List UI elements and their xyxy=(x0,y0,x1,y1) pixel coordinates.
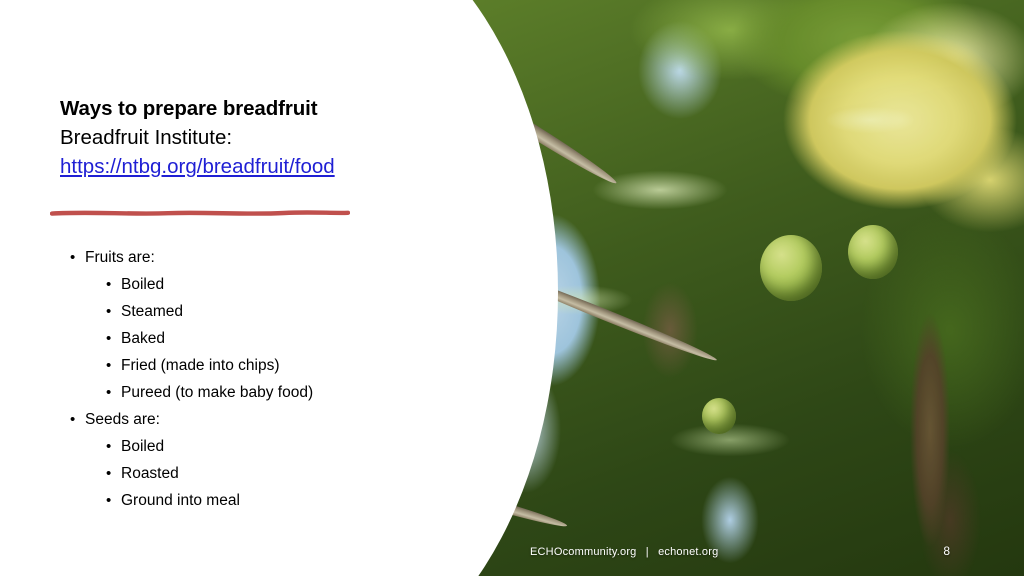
list-item: •Baked xyxy=(64,325,444,352)
breadfruit-fruit xyxy=(848,225,898,279)
footer-site-secondary: echonet.org xyxy=(658,546,718,558)
list-item-label: Steamed xyxy=(121,298,444,325)
bullet-dot-icon: • xyxy=(70,244,85,271)
list-item-label: Roasted xyxy=(121,460,444,487)
title-subtitle: Breadfruit Institute: xyxy=(60,123,450,152)
list-item: •Steamed xyxy=(64,298,444,325)
page-title: Ways to prepare breadfruit xyxy=(60,94,450,123)
red-divider xyxy=(50,207,350,219)
bullet-dot-icon: • xyxy=(106,433,121,460)
breadfruit-fruit xyxy=(702,398,736,434)
title-block: Ways to prepare breadfruit Breadfruit In… xyxy=(60,94,450,181)
list-item-label: Boiled xyxy=(121,271,444,298)
list-item-label: Fried (made into chips) xyxy=(121,352,444,379)
footer-site-primary: ECHOcommunity.org xyxy=(530,546,637,558)
list-item: •Boiled xyxy=(64,271,444,298)
photo-panel: ECHOcommunity.org | echonet.org 8 xyxy=(430,0,1024,576)
list-item: •Fruits are: xyxy=(64,244,444,271)
text-column: Ways to prepare breadfruit Breadfruit In… xyxy=(0,0,450,576)
breadfruit-institute-link[interactable]: https://ntbg.org/breadfruit/food xyxy=(60,152,335,181)
bullet-dot-icon: • xyxy=(106,487,121,514)
footer-credit: ECHOcommunity.org | echonet.org xyxy=(530,546,718,558)
bullet-dot-icon: • xyxy=(70,406,85,433)
list-item-label: Fruits are: xyxy=(85,244,444,271)
footer-separator: | xyxy=(640,546,655,558)
list-item: •Ground into meal xyxy=(64,487,444,514)
page-number: 8 xyxy=(943,544,950,558)
bullet-dot-icon: • xyxy=(106,379,121,406)
bullet-dot-icon: • xyxy=(106,352,121,379)
list-item-label: Baked xyxy=(121,325,444,352)
breadfruit-fruit xyxy=(760,235,822,301)
list-item: •Pureed (to make baby food) xyxy=(64,379,444,406)
bullet-dot-icon: • xyxy=(106,298,121,325)
list-item-label: Pureed (to make baby food) xyxy=(121,379,444,406)
list-item: •Seeds are: xyxy=(64,406,444,433)
list-item-label: Seeds are: xyxy=(85,406,444,433)
bullet-list: •Fruits are:•Boiled•Steamed•Baked•Fried … xyxy=(64,244,444,514)
list-item-label: Boiled xyxy=(121,433,444,460)
bullet-dot-icon: • xyxy=(106,460,121,487)
bullet-dot-icon: • xyxy=(106,271,121,298)
list-item: •Roasted xyxy=(64,460,444,487)
slide: ECHOcommunity.org | echonet.org 8 Ways t… xyxy=(0,0,1024,576)
bullet-dot-icon: • xyxy=(106,325,121,352)
list-item: •Fried (made into chips) xyxy=(64,352,444,379)
list-item-label: Ground into meal xyxy=(121,487,444,514)
list-item: •Boiled xyxy=(64,433,444,460)
